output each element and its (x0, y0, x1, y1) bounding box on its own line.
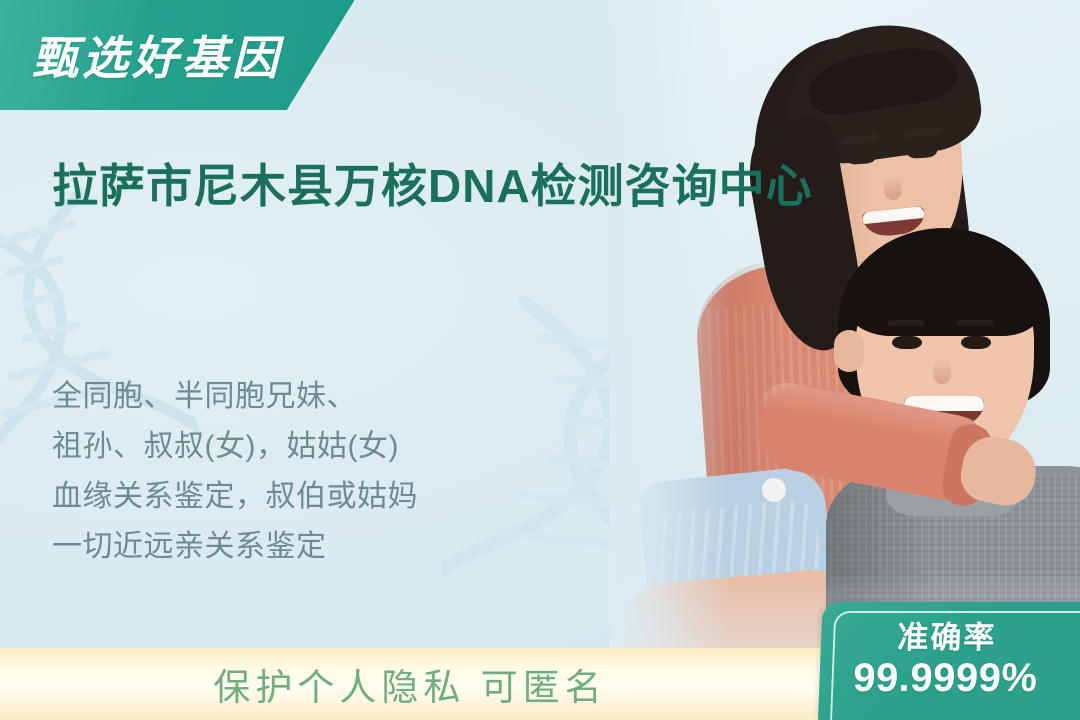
two-children-photo (610, 0, 1080, 662)
service-description: 全同胞、半同胞兄妹、 祖孙、叔叔(女)，姑姑(女) 血缘关系鉴定，叔伯或姑妈 一… (52, 372, 572, 572)
photo-left-fade (610, 0, 730, 662)
description-line: 祖孙、叔叔(女)，姑姑(女) (52, 422, 572, 472)
description-line: 血缘关系鉴定，叔伯或姑妈 (52, 472, 572, 522)
page-title: 拉萨市尼木县万核DNA检测咨询中心 (52, 156, 822, 217)
privacy-banner-text: 保护个人隐私 可匿名 (0, 648, 820, 720)
accuracy-label: 准确率 (897, 621, 997, 655)
accuracy-badge-content: 准确率 99.9999% (814, 602, 1079, 720)
description-line: 一切近远亲关系鉴定 (52, 522, 572, 572)
description-line: 全同胞、半同胞兄妹、 (52, 372, 572, 422)
promo-banner: 甄选好基因 拉萨市尼木县万核DNA检测咨询中心 全同胞、半同胞兄妹、 祖孙、叔叔… (0, 0, 1080, 720)
accuracy-value: 99.9999% (852, 655, 1038, 701)
brand-logo-text: 甄选好基因 (32, 22, 324, 88)
